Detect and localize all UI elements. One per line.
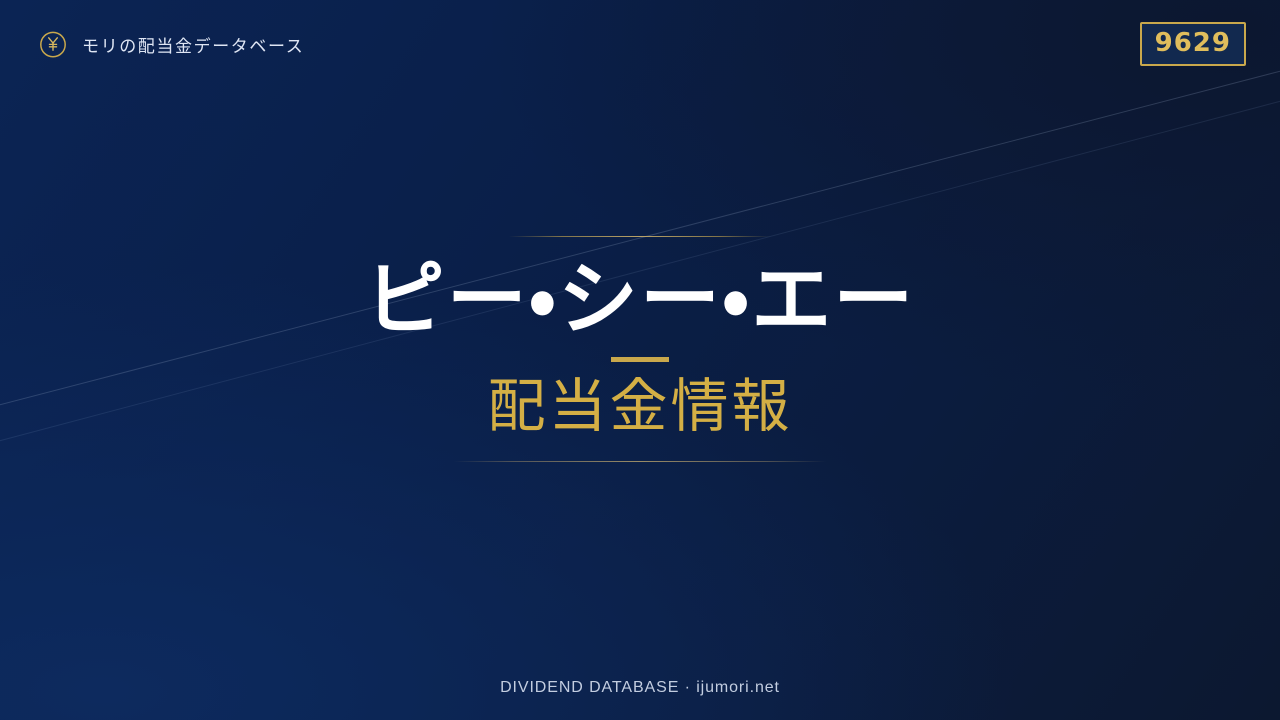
title-block: ピー・シー・エー 配当金情報 — [0, 236, 1280, 462]
slide-header: モリの配当金データベース 9629 — [0, 0, 1280, 88]
ticker-badge: 9629 — [1140, 22, 1246, 66]
divider-top — [509, 236, 771, 237]
brand: モリの配当金データベース — [38, 29, 304, 59]
page-title: ピー・シー・エー — [365, 258, 915, 343]
accent-bar — [611, 357, 669, 362]
brand-title: モリの配当金データベース — [82, 32, 304, 57]
divider-bottom — [454, 461, 826, 462]
footer-text: DIVIDEND DATABASE · ijumori.net — [500, 679, 780, 697]
page-subtitle: 配当金情報 — [487, 374, 792, 439]
slide-footer: DIVIDEND DATABASE · ijumori.net — [0, 656, 1280, 720]
slide-canvas: モリの配当金データベース 9629 ピー・シー・エー 配当金情報 DIVIDEN… — [0, 0, 1280, 720]
yen-circle-icon — [38, 29, 68, 59]
